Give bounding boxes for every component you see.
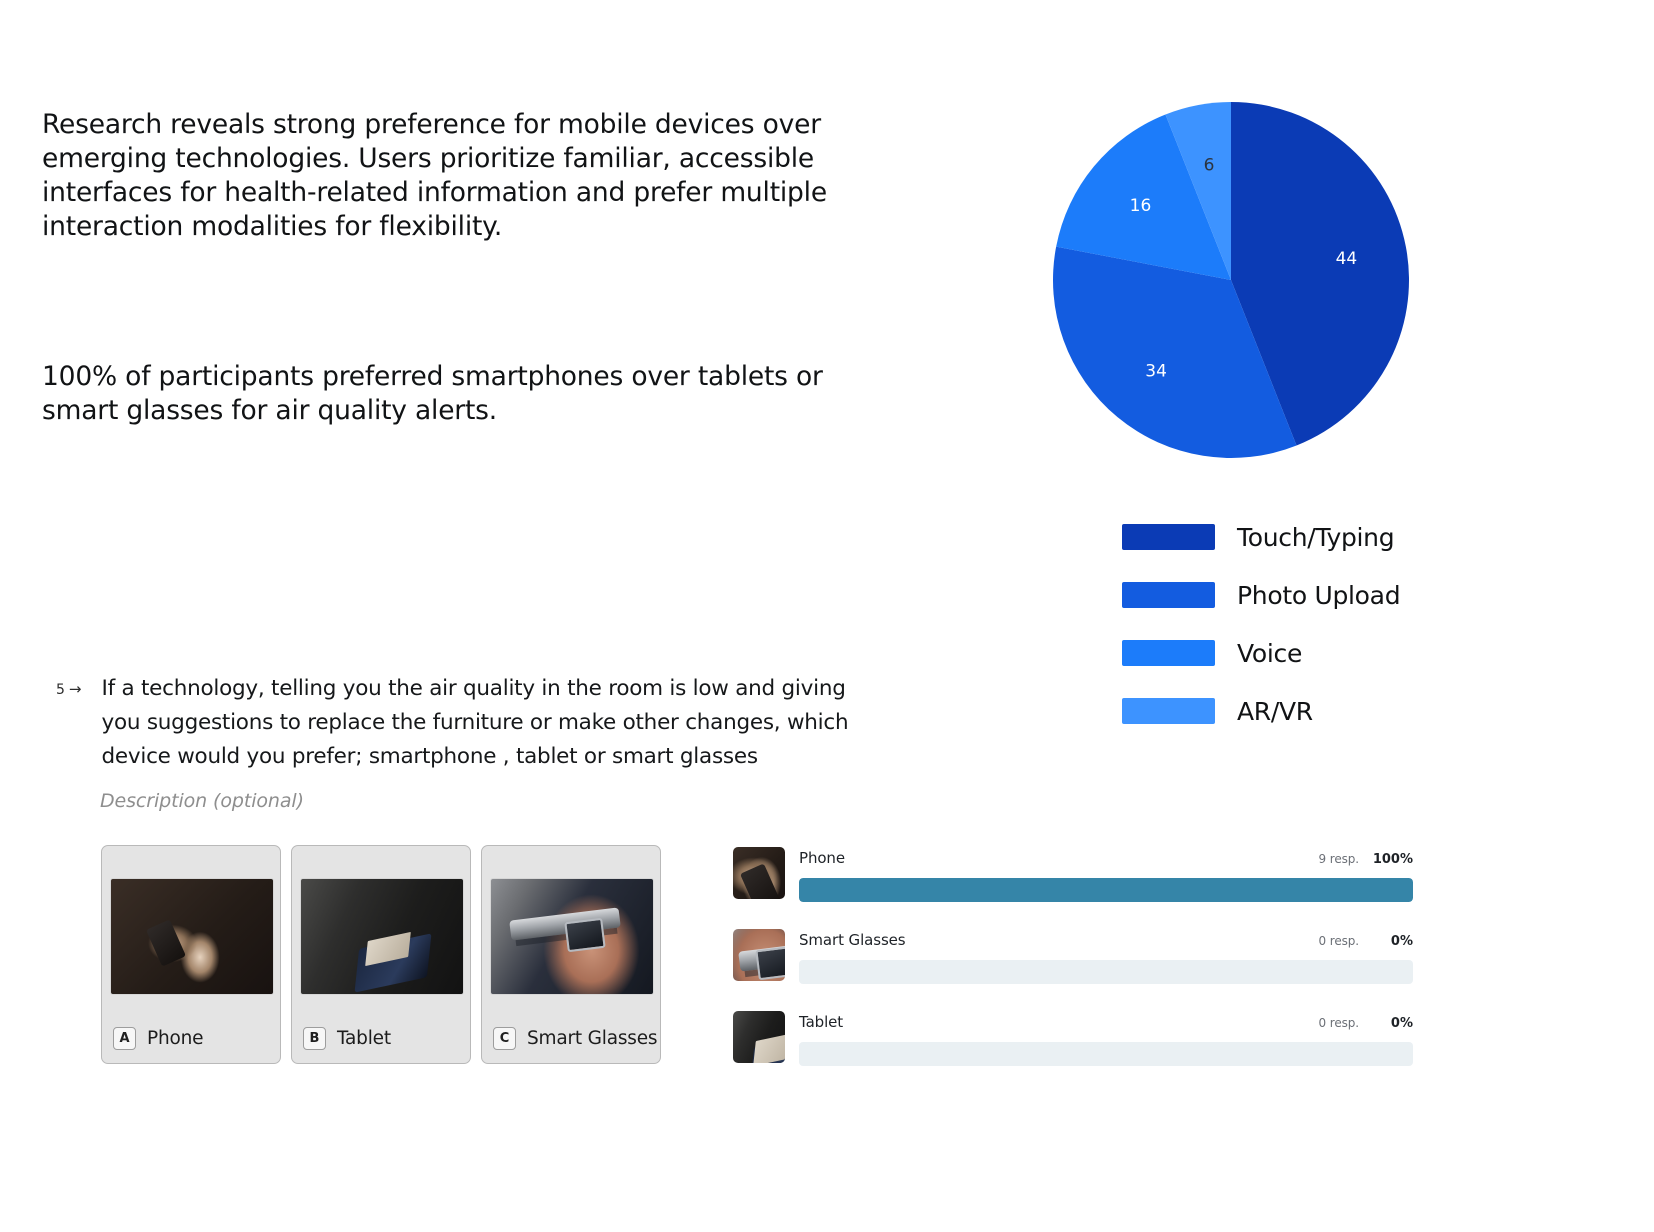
result-row-phone: Phone 9 resp. 100% [733,847,1413,902]
phone-hand-photo [733,847,785,899]
pie-label-photo-upload: 34 [1145,362,1167,382]
pie-slices [1053,102,1409,458]
question-header: 5 → If a technology, telling you the air… [56,672,886,774]
result-bar-track [799,1042,1413,1066]
result-body: Phone 9 resp. 100% [799,847,1413,902]
question-text: If a technology, telling you the air qua… [102,672,887,774]
result-response-count: 0 resp. [1319,934,1360,948]
result-percent: 0% [1359,1016,1413,1031]
result-meta: 9 resp. 100% [1319,852,1414,867]
result-header: Phone 9 resp. 100% [799,849,1413,867]
legend-item-touch-typing: Touch/Typing [1122,508,1452,566]
option-label: Tablet [337,1028,391,1049]
survey-question: 5 → If a technology, telling you the air… [56,672,886,812]
result-meta: 0 resp. 0% [1319,934,1414,949]
result-header: Smart Glasses 0 resp. 0% [799,931,1413,949]
result-bar-track [799,878,1413,902]
pie-label-touch-typing: 44 [1336,249,1358,269]
narrative-paragraph-2: 100% of participants preferred smartphon… [42,360,872,428]
narrative-paragraph-1: Research reveals strong preference for m… [42,108,872,244]
phone-hand-photo [111,879,273,994]
result-percent: 0% [1359,934,1413,949]
tablet-stylus-photo [301,879,463,994]
smart-glasses-woman-photo [491,879,653,994]
option-badge: B [303,1027,326,1050]
result-response-count: 9 resp. [1319,852,1360,866]
option-card-phone[interactable]: A Phone [101,845,281,1064]
legend-label: Voice [1237,639,1302,668]
legend-label: Photo Upload [1237,581,1400,610]
result-header: Tablet 0 resp. 0% [799,1013,1413,1031]
option-badge: C [493,1027,516,1050]
question-description-placeholder[interactable]: Description (optional) [100,790,886,812]
modality-pie-chart: 44 34 16 6 [1053,102,1409,458]
slide-canvas: Research reveals strong preference for m… [0,0,1654,1232]
legend-item-photo-upload: Photo Upload [1122,566,1452,624]
legend-item-ar-vr: AR/VR [1122,682,1452,740]
legend-label: AR/VR [1237,697,1313,726]
result-row-tablet: Tablet 0 resp. 0% [733,1011,1413,1066]
legend-swatch-icon [1122,698,1215,724]
option-card-footer: A Phone [111,1027,271,1063]
legend-swatch-icon [1122,582,1215,608]
option-card-smart-glasses[interactable]: C Smart Glasses [481,845,661,1064]
tablet-stylus-photo [733,1011,785,1063]
question-number: 5 [56,672,65,705]
option-card-footer: B Tablet [301,1027,461,1063]
option-cards: A Phone B Tablet C Smart Glasses [101,845,661,1064]
result-meta: 0 resp. 0% [1319,1016,1414,1031]
pie-svg: 44 34 16 6 [1053,102,1409,458]
result-response-count: 0 resp. [1319,1016,1360,1030]
results-panel: Phone 9 resp. 100% Smart Glasses 0 resp. [733,847,1413,1093]
option-badge: A [113,1027,136,1050]
legend-swatch-icon [1122,524,1215,550]
legend-label: Touch/Typing [1237,523,1394,552]
pie-label-ar-vr: 6 [1204,156,1215,176]
arrow-right-icon: → [69,672,82,704]
result-label: Tablet [799,1013,843,1031]
legend-swatch-icon [1122,640,1215,666]
legend-item-voice: Voice [1122,624,1452,682]
result-body: Tablet 0 resp. 0% [799,1011,1413,1066]
option-label: Smart Glasses [527,1028,657,1049]
result-body: Smart Glasses 0 resp. 0% [799,929,1413,984]
result-percent: 100% [1359,852,1413,867]
pie-label-voice: 16 [1130,196,1152,216]
smart-glasses-woman-photo [733,929,785,981]
option-card-footer: C Smart Glasses [491,1027,651,1063]
result-label: Smart Glasses [799,931,906,949]
result-row-smart-glasses: Smart Glasses 0 resp. 0% [733,929,1413,984]
option-card-tablet[interactable]: B Tablet [291,845,471,1064]
result-bar-fill [799,878,1413,902]
result-bar-track [799,960,1413,984]
result-label: Phone [799,849,845,867]
pie-legend: Touch/Typing Photo Upload Voice AR/VR [1122,508,1452,740]
option-label: Phone [147,1028,203,1049]
